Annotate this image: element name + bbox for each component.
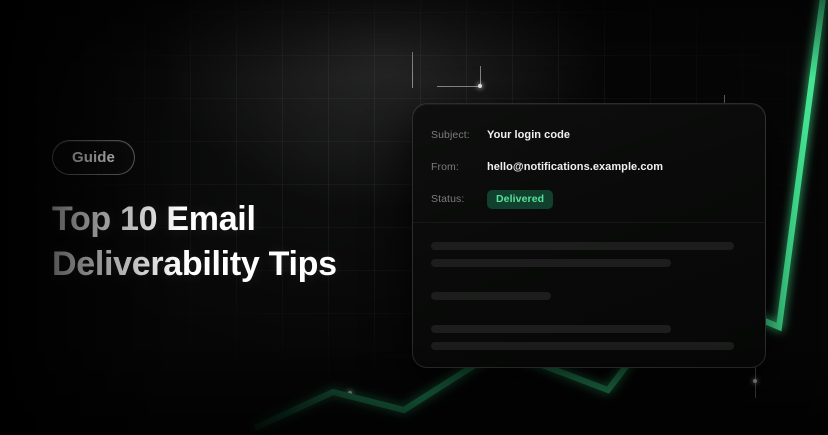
background-vignette <box>0 0 828 435</box>
hero-banner: Guide Top 10 Email Deliverability Tips S… <box>0 0 828 435</box>
